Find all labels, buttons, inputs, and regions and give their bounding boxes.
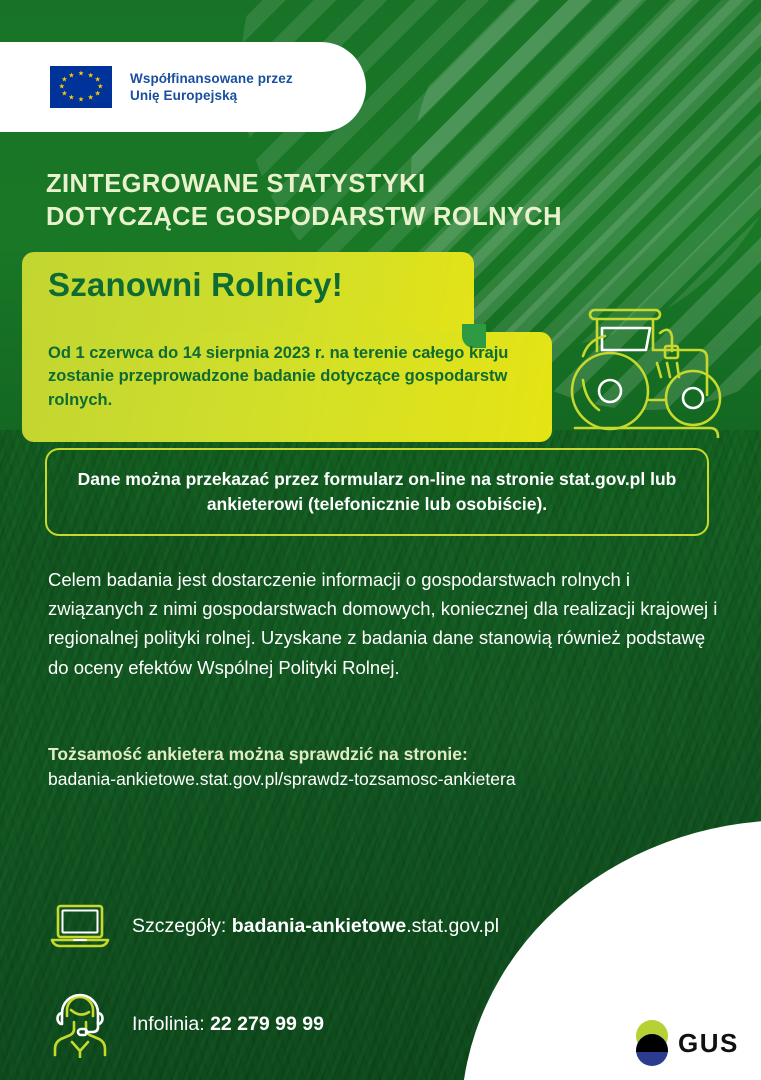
details-bold: badania-ankietowe [232,915,406,937]
body-paragraph: Celem badania jest dostarczenie informac… [48,565,728,682]
online-form-note-box: Dane można przekazać przez formularz on-… [45,448,709,536]
eu-flag-star: ★ [87,95,93,102]
details-text: Szczegóły: badania-ankietowe.stat.gov.pl [132,915,499,938]
verify-identity-block: Tożsamość ankietera można sprawdzić na s… [48,742,738,793]
verify-identity-lead: Tożsamość ankietera można sprawdzić na s… [48,742,738,767]
eu-badge-text: Współfinansowane przez Unię Europejską [130,70,293,105]
hotline-number[interactable]: 22 279 99 99 [210,1013,324,1035]
eu-flag-star: ★ [87,72,93,79]
gus-logo: GUS [620,1006,761,1080]
hotline-text: Infolinia: 22 279 99 99 [132,1013,324,1036]
details-row: Szczegóły: badania-ankietowe.stat.gov.pl [50,902,499,950]
details-rest: .stat.gov.pl [406,915,499,937]
laptop-icon [50,902,110,950]
eu-flag-icon: ★★★★★★★★★★★★ [50,66,112,108]
eu-flag-star: ★ [68,72,74,79]
eu-flag-star: ★ [68,95,74,102]
tractor-icon [565,288,745,438]
details-label: Szczegóły: [132,915,232,937]
eu-badge-line1: Współfinansowane przez [130,70,293,87]
online-form-note-text: Dane można przekazać przez formularz on-… [47,467,707,517]
eu-flag-star: ★ [61,77,67,84]
page-title-line1: ZINTEGROWANE STATYSTYKI [46,168,686,201]
eu-badge-line2: Unię Europejską [130,87,293,104]
hotline-row: Infolinia: 22 279 99 99 [50,990,324,1058]
poster-canvas: ★★★★★★★★★★★★ Współfinansowane przez Unię… [0,0,761,1080]
callout-body: Od 1 czerwca do 14 sierpnia 2023 r. na t… [48,342,540,412]
hotline-label: Infolinia: [132,1013,210,1035]
eu-flag-star: ★ [78,97,84,104]
eu-flag-star: ★ [61,90,67,97]
eu-flag-star: ★ [95,90,101,97]
verify-identity-url[interactable]: badania-ankietowe.stat.gov.pl/sprawdz-to… [48,767,738,792]
headset-operator-icon [50,990,110,1058]
page-title-line2: DOTYCZĄCE GOSPODARSTW ROLNYCH [46,201,686,234]
gus-mark-icon [636,1020,670,1066]
callout-box: Szanowni Rolnicy! Od 1 czerwca do 14 sie… [22,252,552,442]
eu-flag-star: ★ [59,84,65,91]
eu-flag-star: ★ [78,70,84,77]
gus-logo-text: GUS [678,1028,739,1059]
page-title: ZINTEGROWANE STATYSTYKI DOTYCZĄCE GOSPOD… [46,168,686,233]
callout-title: Szanowni Rolnicy! [48,266,343,304]
eu-cofunding-badge: ★★★★★★★★★★★★ Współfinansowane przez Unię… [0,42,366,132]
